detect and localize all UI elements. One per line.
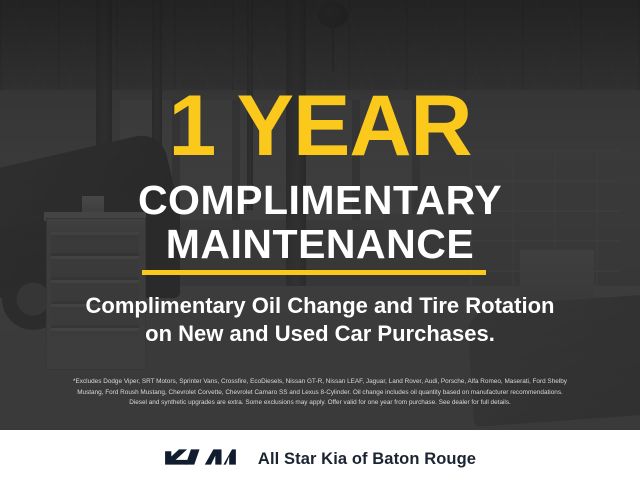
disclaimer-text: *Excludes Dodge Viper, SRT Motors, Sprin… <box>14 377 626 409</box>
tagline-line-1: Complimentary Oil Change and Tire Rotati… <box>0 292 640 320</box>
tagline-line-2: on New and Used Car Purchases. <box>0 320 640 348</box>
disclaimer-line-2: Mustang, Ford Roush Mustang, Chevrolet C… <box>14 388 626 399</box>
tagline: Complimentary Oil Change and Tire Rotati… <box>0 292 640 348</box>
disclaimer-line-3: Diesel and synthetic upgrades are extra.… <box>14 398 626 409</box>
disclaimer-line-1: *Excludes Dodge Viper, SRT Motors, Sprin… <box>14 377 626 388</box>
dealer-name: All Star Kia of Baton Rouge <box>258 450 476 469</box>
kia-logo-icon <box>164 446 236 473</box>
subheading-complimentary: COMPLIMENTARY <box>0 180 640 221</box>
promo-banner: 1 YEAR COMPLIMENTARY MAINTENANCE Complim… <box>0 0 640 488</box>
footer-bar: All Star Kia of Baton Rouge <box>0 430 640 488</box>
banner-content: 1 YEAR COMPLIMENTARY MAINTENANCE Complim… <box>0 0 640 430</box>
headline-1-year: 1 YEAR <box>0 83 640 169</box>
subheading-maintenance: MAINTENANCE <box>0 224 640 265</box>
footer-branding: All Star Kia of Baton Rouge <box>164 446 476 473</box>
yellow-divider-bar <box>142 270 486 275</box>
